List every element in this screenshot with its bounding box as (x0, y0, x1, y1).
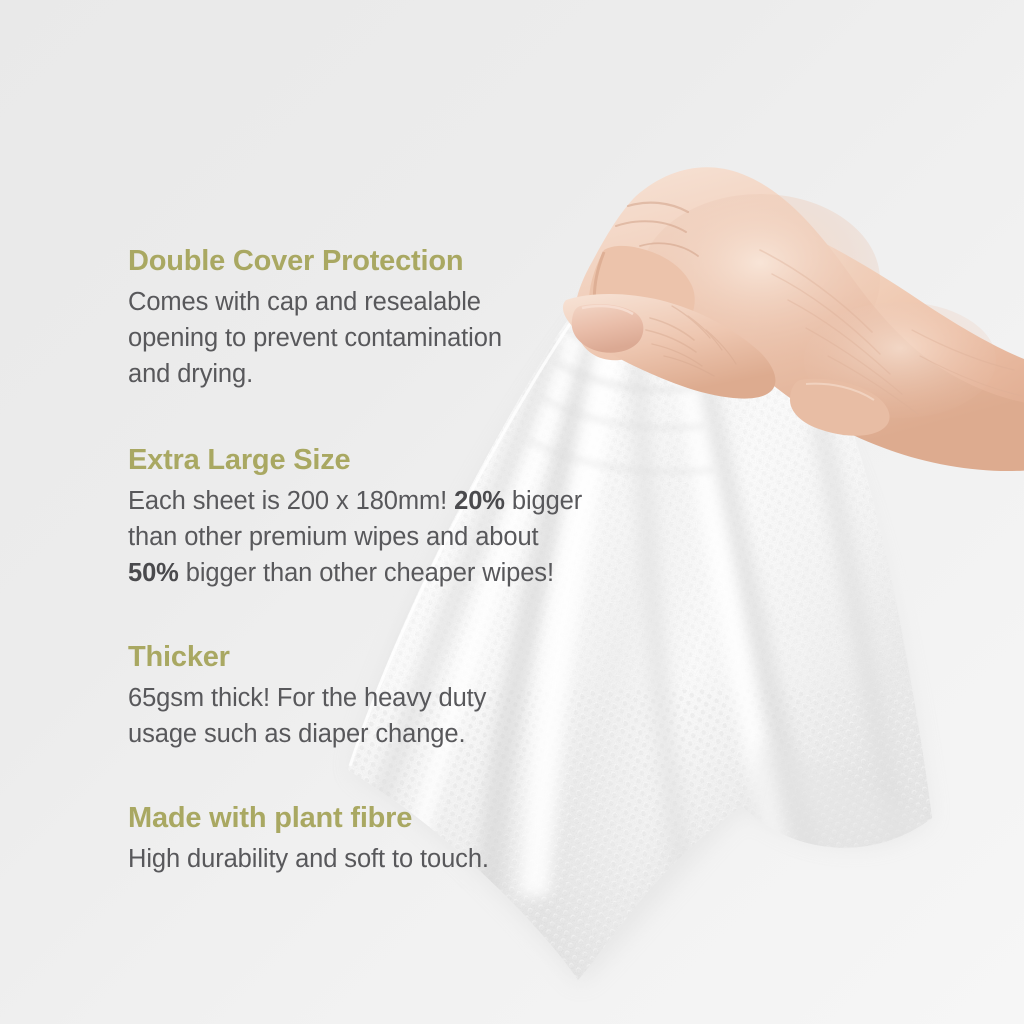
feature-title: Extra Large Size (128, 442, 728, 478)
feature-body: Each sheet is 200 x 180mm! 20% biggertha… (128, 483, 728, 591)
feature-item: Extra Large Size Each sheet is 200 x 180… (128, 442, 728, 591)
feature-body-line: opening to prevent contamination (128, 320, 728, 356)
feature-body-line: High durability and soft to touch. (128, 841, 728, 877)
feature-list: Double Cover Protection Comes with cap a… (128, 243, 728, 877)
feature-body-line: Comes with cap and resealable (128, 284, 728, 320)
feature-body-line: than other premium wipes and about (128, 519, 728, 555)
feature-title: Double Cover Protection (128, 243, 728, 279)
feature-item: Made with plant fibre High durability an… (128, 800, 728, 877)
product-feature-poster: Double Cover Protection Comes with cap a… (0, 0, 1024, 1024)
feature-item: Thicker 65gsm thick! For the heavy dutyu… (128, 639, 728, 752)
feature-body-line: usage such as diaper change. (128, 716, 728, 752)
feature-title: Made with plant fibre (128, 800, 728, 836)
feature-body-line: 50% bigger than other cheaper wipes! (128, 555, 728, 591)
feature-body-line: Each sheet is 200 x 180mm! 20% bigger (128, 483, 728, 519)
feature-body: High durability and soft to touch. (128, 841, 728, 877)
feature-title: Thicker (128, 639, 728, 675)
feature-item: Double Cover Protection Comes with cap a… (128, 243, 728, 392)
feature-body: Comes with cap and resealableopening to … (128, 284, 728, 392)
feature-body: 65gsm thick! For the heavy dutyusage suc… (128, 680, 728, 752)
feature-body-line: 65gsm thick! For the heavy duty (128, 680, 728, 716)
feature-body-line: and drying. (128, 356, 728, 392)
